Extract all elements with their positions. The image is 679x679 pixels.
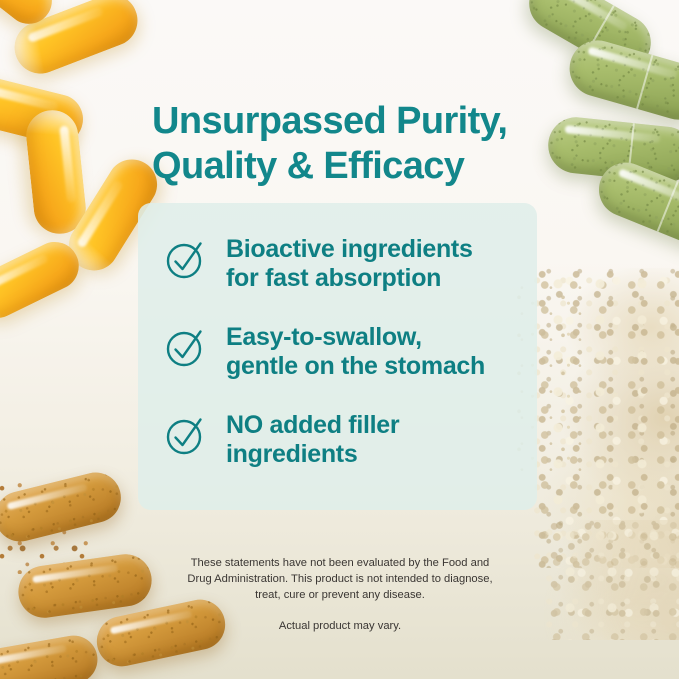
spice-powder-specks	[0, 478, 90, 574]
amber-capsule-4	[0, 632, 101, 679]
list-item: Easy-to-swallow, gentle on the stomach	[164, 323, 537, 381]
benefits-list: Bioactive ingredients for fast absorptio…	[138, 203, 537, 469]
list-item: NO added filler ingredients	[164, 411, 537, 469]
product-feature-image: Unsurpassed Purity, Quality & Efficacy B…	[0, 0, 679, 679]
disclaimer-line-1: These statements have not been evaluated…	[140, 556, 540, 572]
disclaimer-line-3: treat, cure or prevent any disease.	[140, 588, 540, 604]
list-item: Bioactive ingredients for fast absorptio…	[164, 235, 537, 293]
green-capsule-2	[563, 34, 679, 126]
list-item-label: Bioactive ingredients for fast absorptio…	[226, 235, 473, 293]
yellow-softgel-3	[24, 108, 89, 237]
product-variance-note: Actual product may vary.	[140, 620, 540, 632]
headline-line-2: Quality & Efficacy	[152, 144, 572, 188]
check-circle-icon	[164, 237, 208, 281]
fda-disclaimer: These statements have not been evaluated…	[140, 556, 540, 604]
list-item-label: Easy-to-swallow, gentle on the stomach	[226, 323, 485, 381]
disclaimer-line-2: Drug Administration. This product is not…	[140, 572, 540, 588]
green-capsule-4	[591, 154, 679, 255]
yellow-softgel-5	[0, 234, 87, 326]
amber-capsule-2	[15, 551, 155, 621]
yellow-softgel-2	[0, 72, 88, 149]
yellow-softgel-1	[7, 0, 145, 81]
list-item-label: NO added filler ingredients	[226, 411, 399, 469]
green-capsule-1	[519, 0, 660, 79]
yellow-softgel-6	[0, 0, 61, 33]
headline-line-1: Unsurpassed Purity,	[152, 99, 572, 143]
amber-capsule-1	[0, 467, 126, 546]
check-circle-icon	[164, 325, 208, 369]
page-title: Unsurpassed Purity, Quality & Efficacy	[152, 99, 572, 187]
cream-powder-mound	[532, 268, 679, 568]
benefits-card: Bioactive ingredients for fast absorptio…	[138, 203, 537, 510]
check-circle-icon	[164, 413, 208, 457]
cream-powder-base	[544, 520, 679, 640]
amber-capsule-3	[92, 595, 230, 671]
